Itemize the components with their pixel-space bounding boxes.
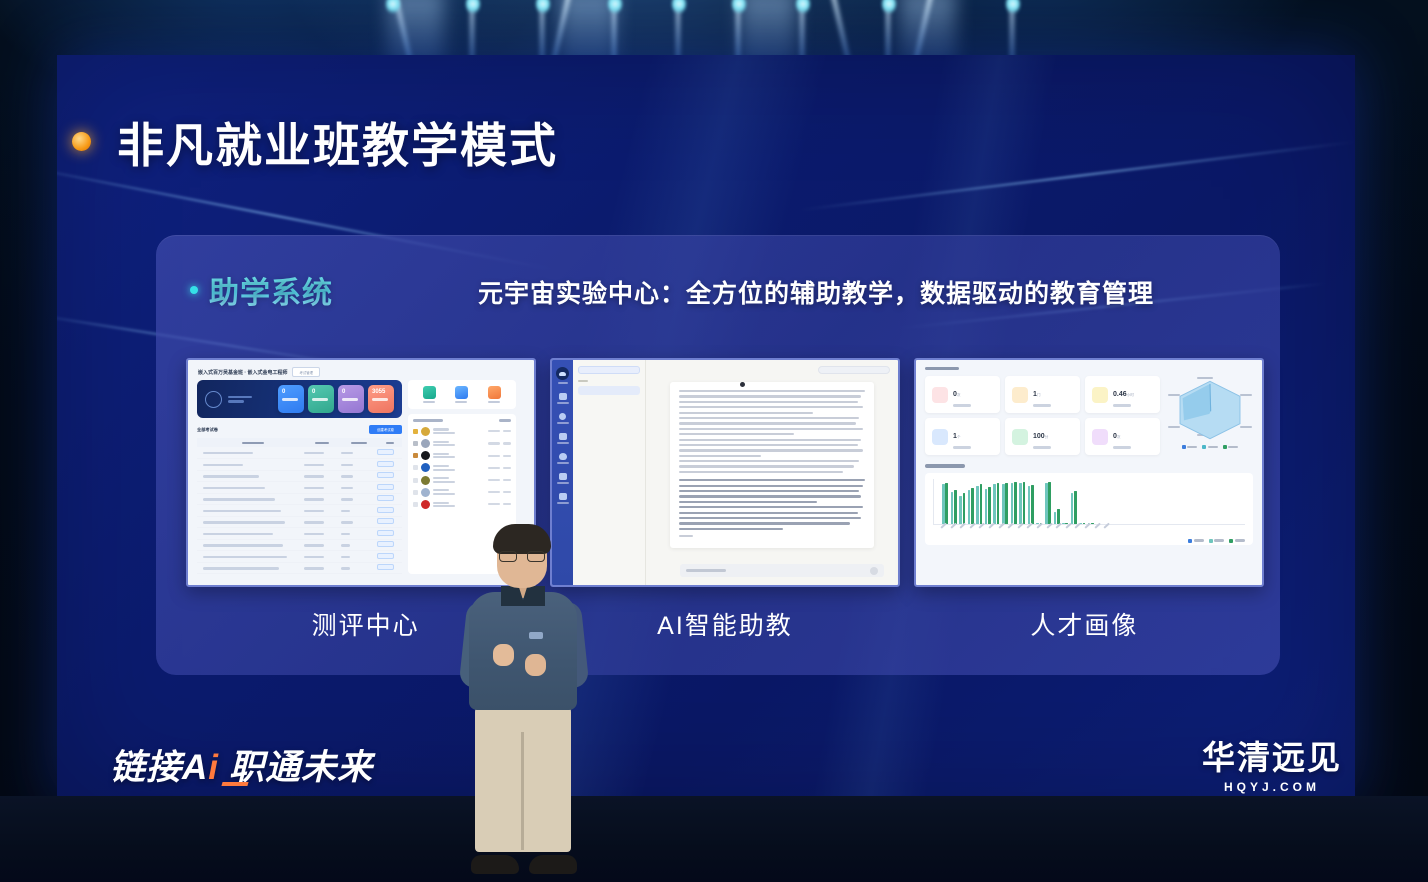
sidebar-item-docs[interactable] — [559, 493, 567, 500]
radar-polygon — [1177, 380, 1243, 440]
chat-topic-tag[interactable] — [818, 366, 890, 374]
row-action-button[interactable] — [377, 530, 394, 536]
section-subtitle: 元宇宙实验中心：全方位的辅助教学，数据驱动的教育管理 — [478, 274, 1154, 310]
bank-icon — [455, 386, 468, 399]
c1-banner-avatar-icon — [205, 391, 222, 408]
assistant-avatar-icon — [740, 382, 745, 387]
row-action-button[interactable] — [377, 541, 394, 547]
c2-chat-area — [646, 360, 898, 585]
glasses-icon — [499, 551, 545, 562]
bar-group — [985, 487, 991, 524]
presenter-trousers — [475, 702, 571, 852]
table-row[interactable] — [197, 459, 402, 471]
new-chat-button[interactable] — [578, 366, 640, 374]
table-row[interactable] — [197, 470, 402, 482]
bar-group — [1011, 482, 1017, 523]
presenter — [443, 524, 603, 874]
avatar — [421, 476, 430, 485]
section-label: 助学系统 — [209, 268, 333, 312]
upload-icon — [1092, 429, 1108, 445]
report-icon — [423, 386, 436, 399]
row-action-button[interactable] — [377, 484, 394, 490]
row-action-button[interactable] — [377, 461, 394, 467]
kpi-grid: 0次 1门 0.46小时 1个 100分 0次 — [925, 376, 1160, 455]
c1-header: 嵌入式百万吴基金班 · 嵌入式金电工程师 考试管理 — [188, 360, 534, 380]
shirt-logo-icon — [529, 632, 543, 639]
brand-slogan-part2: 职通未来 — [229, 739, 373, 790]
row-action-button[interactable] — [377, 495, 394, 501]
kpi-card: 0次 — [925, 376, 1000, 413]
table-row[interactable] — [197, 447, 402, 459]
presenter-shirt — [469, 592, 577, 710]
app-logo-icon — [556, 367, 569, 380]
brand-slogan-part1: 链接Ai — [110, 739, 219, 790]
legend-item — [1229, 539, 1245, 543]
list-item[interactable] — [413, 498, 511, 510]
table-row[interactable] — [197, 551, 402, 563]
avatar — [421, 439, 430, 448]
bar-chart-plot — [933, 479, 1245, 525]
c1-stat-card: 3055 — [368, 385, 394, 413]
bar-group — [959, 493, 965, 523]
table-row[interactable] — [197, 516, 402, 528]
legend-item — [1202, 445, 1218, 449]
screenshot-card-row: 嵌入式百万吴基金班 · 嵌入式金电工程师 考试管理 0 0 0 3055 — [186, 358, 1264, 590]
c3-chart-title — [925, 464, 965, 467]
c1-stat-card: 0 — [278, 385, 304, 413]
presenter-hand — [493, 644, 514, 666]
row-action-button[interactable] — [377, 449, 394, 455]
legend-item — [1223, 445, 1239, 449]
bar-group — [1002, 483, 1008, 524]
sidebar-item-courses[interactable] — [559, 433, 567, 440]
caption-row: 测评中心 AI智能助教 人才画像 — [186, 606, 1264, 642]
star-icon — [1092, 387, 1108, 403]
presenter-shoe — [471, 855, 519, 874]
table-row[interactable] — [197, 562, 402, 574]
sidebar-item-knowledge[interactable] — [559, 413, 566, 420]
row-action-button[interactable] — [377, 518, 394, 524]
bar-chart-xaxis — [933, 527, 1245, 529]
c1-banner-label — [228, 396, 252, 403]
radar-legend — [1167, 445, 1253, 449]
rank-more-link[interactable] — [499, 419, 511, 422]
list-item[interactable] — [413, 425, 511, 437]
table-row[interactable] — [197, 528, 402, 540]
shortcut-question-bank[interactable] — [455, 386, 468, 403]
bar-group — [968, 488, 974, 524]
c1-header-title: 嵌入式百万吴基金班 · 嵌入式金电工程师 — [198, 369, 287, 376]
company-logo: 华清远见 HQYJ.COM — [1202, 731, 1342, 794]
shortcut-log-analysis[interactable] — [488, 386, 501, 403]
c1-table — [197, 438, 402, 574]
bar-group — [1019, 482, 1025, 523]
table-row[interactable] — [197, 505, 402, 517]
row-action-button[interactable] — [377, 553, 394, 559]
c1-table-title: 全部考试卷 — [197, 427, 218, 433]
brand-slogan: 链接Ai 职通未来 — [110, 739, 373, 790]
row-action-button[interactable] — [377, 472, 394, 478]
sidebar-item-chat[interactable] — [559, 393, 567, 400]
table-row[interactable] — [197, 482, 402, 494]
avatar — [421, 427, 430, 436]
avatar — [421, 451, 430, 460]
slide-title-row: 非凡就业班教学模式 — [72, 107, 558, 176]
task-icon — [932, 429, 948, 445]
bullet-dot-icon — [72, 132, 91, 151]
sidebar-item-notes[interactable] — [559, 473, 567, 480]
book-icon — [1012, 387, 1028, 403]
c1-header-chip[interactable]: 考试管理 — [292, 367, 320, 377]
list-item[interactable] — [413, 474, 511, 486]
c1-banner: 0 0 0 3055 — [197, 380, 402, 418]
legend-item — [1182, 445, 1198, 449]
c3-section-title — [925, 367, 959, 370]
kpi-card: 0.46小时 — [1085, 376, 1160, 413]
avatar — [421, 488, 430, 497]
send-icon[interactable] — [870, 567, 878, 575]
page-title: 非凡就业班教学模式 — [117, 107, 558, 176]
bar-group — [1045, 482, 1051, 523]
kpi-card: 0次 — [1085, 418, 1160, 455]
row-action-button[interactable] — [377, 564, 394, 570]
legend-item — [1188, 539, 1204, 543]
bar-group — [1062, 523, 1068, 524]
bar-group — [951, 490, 957, 524]
avatar — [421, 500, 430, 509]
clock-icon — [932, 387, 948, 403]
c1-create-button[interactable]: 创建考试卷 — [369, 425, 402, 434]
list-item[interactable] — [413, 486, 511, 498]
kpi-card: 100分 — [1005, 418, 1080, 455]
bar-group — [976, 484, 982, 524]
table-row[interactable] — [197, 493, 402, 505]
list-item[interactable] — [413, 462, 511, 474]
kpi-card: 1个 — [925, 418, 1000, 455]
c1-stat-card: 0 — [338, 385, 364, 413]
stage-floor — [0, 796, 1428, 882]
list-item[interactable] — [413, 437, 511, 449]
company-domain: HQYJ.COM — [1202, 780, 1342, 794]
section-header: 助学系统 — [190, 268, 333, 312]
bar-group — [1054, 509, 1060, 524]
c1-shortcut-row — [408, 380, 516, 409]
list-item[interactable] — [413, 450, 511, 462]
presenter-hair — [493, 524, 551, 554]
table-row[interactable] — [197, 539, 402, 551]
stage-scene: 非凡就业班教学模式 助学系统 元宇宙实验中心：全方位的辅助教学，数据驱动的教育管… — [0, 0, 1428, 882]
company-name: 华清远见 — [1202, 731, 1342, 779]
row-action-button[interactable] — [377, 507, 394, 513]
bar-chart-legend — [1188, 539, 1245, 543]
c1-table-header: 全部考试卷 创建考试卷 — [197, 425, 402, 434]
log-icon — [488, 386, 501, 399]
presenter-shoe — [529, 855, 577, 874]
sidebar-item-homework[interactable] — [559, 453, 567, 460]
bar-chart — [925, 473, 1253, 545]
caption-talent-profile: 人才画像 — [905, 606, 1264, 642]
chat-input[interactable] — [680, 564, 884, 577]
shortcut-grade-report[interactable] — [423, 386, 436, 403]
bar-group — [942, 483, 948, 524]
presenter-hand — [525, 654, 546, 676]
assistant-message — [670, 382, 874, 548]
history-group-label — [578, 380, 588, 382]
c1-stat-row: 0 0 0 3055 — [278, 385, 394, 413]
c1-stat-card: 0 — [308, 385, 334, 413]
table-header-row — [197, 438, 402, 447]
bar-group — [1028, 485, 1034, 524]
avatar — [421, 463, 430, 472]
legend-item — [1209, 539, 1225, 543]
bar-group — [993, 483, 999, 524]
radar-chart — [1167, 376, 1253, 455]
kpi-card: 1门 — [1005, 376, 1080, 413]
bar-group — [1071, 491, 1077, 523]
section-bullet-icon — [190, 286, 198, 294]
screenshot-talent-profile[interactable]: 0次 1门 0.46小时 1个 100分 0次 — [914, 358, 1264, 587]
history-item[interactable] — [578, 386, 640, 395]
score-icon — [1012, 429, 1028, 445]
rank-header — [413, 419, 511, 422]
